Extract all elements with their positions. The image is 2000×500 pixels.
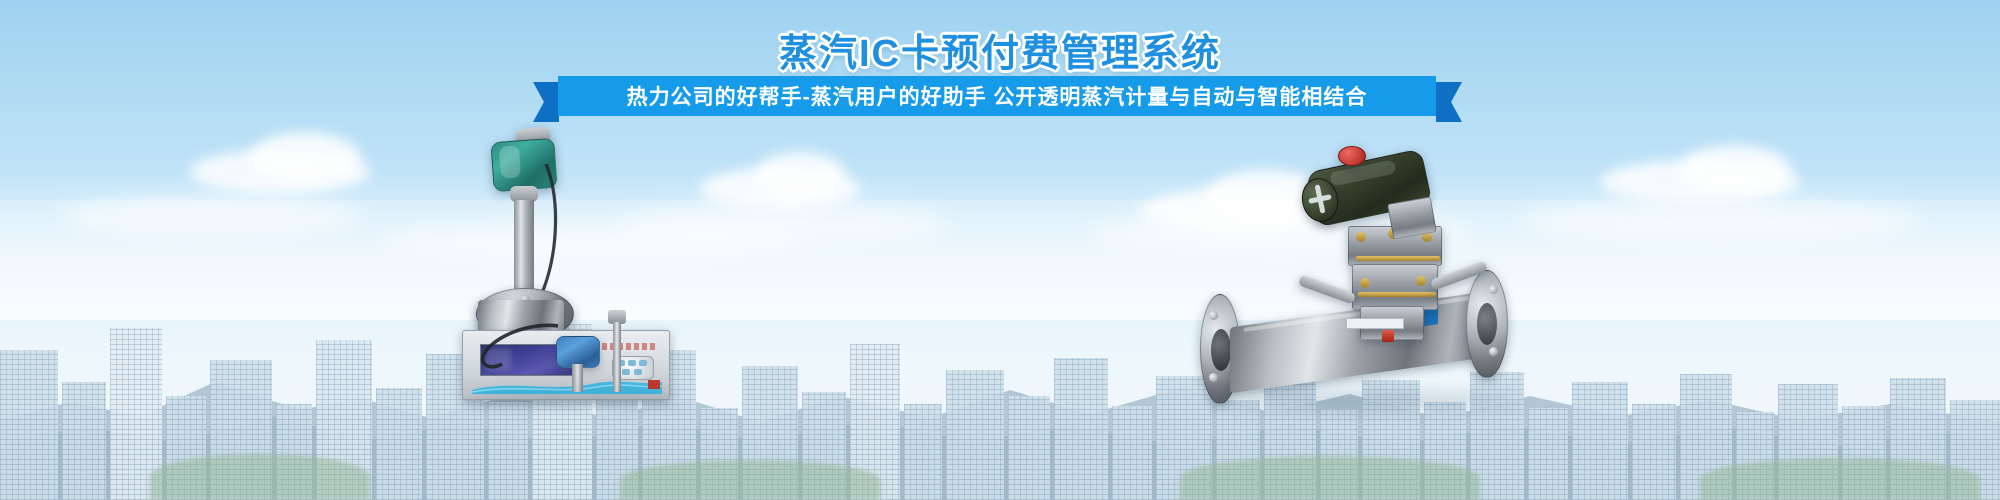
banner-subtitle: 热力公司的好帮手-蒸汽用户的好助手 公开透明蒸汽计量与自动与智能相结合 [558,76,1436,116]
manifold-tie-rod [1356,256,1440,261]
dp-transmitter [1302,142,1462,252]
manifold-tie-rod [1358,292,1436,297]
manifold-bolt [1360,278,1370,288]
transmitter-process-joint [1387,196,1437,239]
transmitter-vent-cap [1338,146,1366,166]
pipe-bore-right [1477,303,1497,345]
banner-stage: 蒸汽IC卡预付费管理系统 热力公司的好帮手-蒸汽用户的好助手 公开透明蒸汽计量与… [0,0,2000,500]
page-title: 蒸汽IC卡预付费管理系统 [0,22,2000,77]
manifold-nameplate [1346,318,1404,329]
drain-valve-red [1382,330,1394,342]
ribbon-fold-left [533,82,559,122]
assembly-shadow [470,390,680,406]
probe-shaft [613,322,621,392]
pipe-bore-left [1211,329,1231,371]
assembly-shadow [1220,392,1520,410]
city-skyline [0,260,2000,500]
vortex-flowmeter [470,128,590,328]
controller-indicator [648,380,660,389]
probe-sensor [600,310,640,390]
keypad-button[interactable] [639,360,647,366]
manifold-bolt [1416,276,1426,286]
pipe-flange-right [1466,270,1508,378]
subtitle-ribbon: 热力公司的好帮手-蒸汽用户的好助手 公开透明蒸汽计量与自动与智能相结合 [0,76,2000,122]
ribbon-fold-right [1436,82,1462,122]
sensor-stem [572,364,583,392]
